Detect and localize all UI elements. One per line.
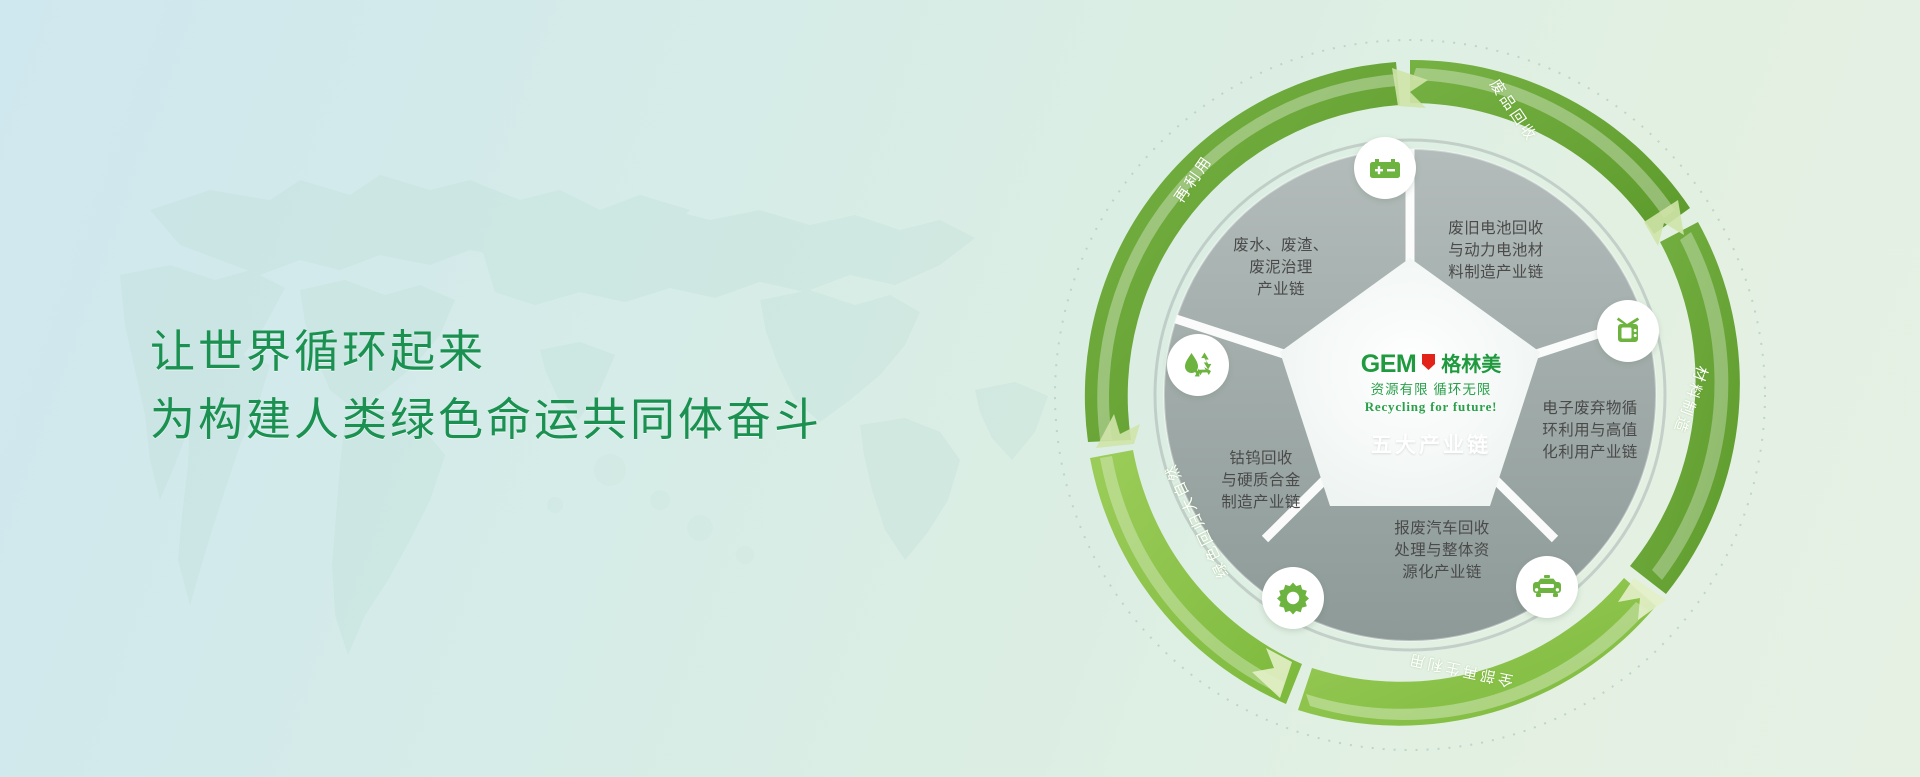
recycle-drop-icon	[1180, 347, 1216, 383]
segment-label-battery: 废旧电池回收 与动力电池材 料制造产业链	[1426, 218, 1566, 284]
logo-slogan-cn: 资源有限 循环无限	[1331, 383, 1531, 397]
logo-flag-icon	[1421, 353, 1436, 376]
hero-banner: 让世界循环起来 为构建人类绿色命运共同体奋斗	[0, 0, 1920, 777]
segment-label-cobalt: 钴钨回收 与硬质合金 制造产业链	[1196, 448, 1326, 514]
headline: 让世界循环起来 为构建人类绿色命运共同体奋斗	[150, 318, 822, 455]
logo-brand-latin: GEM	[1361, 352, 1416, 377]
battery-icon	[1367, 150, 1403, 186]
badge-gear	[1262, 567, 1324, 629]
badge-recycle	[1167, 334, 1229, 396]
gem-logo: GEM 格林美 资源有限 循环无限 Recycling for future! …	[1331, 352, 1531, 456]
headline-line-1: 让世界循环起来	[150, 318, 822, 386]
headline-line-2: 为构建人类绿色命运共同体奋斗	[150, 386, 822, 454]
logo-brand-cn: 格林美	[1441, 355, 1501, 375]
car-icon	[1529, 569, 1565, 605]
logo-subtitle: 五大产业链	[1331, 435, 1531, 456]
badge-battery	[1354, 137, 1416, 199]
segment-label-auto: 报废汽车回收 处理与整体资 源化产业链	[1372, 518, 1512, 584]
badge-car	[1516, 556, 1578, 618]
badge-tv	[1597, 300, 1659, 362]
logo-slogan-en: Recycling for future!	[1331, 400, 1531, 413]
segment-label-water: 废水、废渣、 废泥治理 产业链	[1216, 235, 1346, 301]
gear-icon	[1275, 580, 1311, 616]
segment-label-ewaste: 电子废弃物循 环利用与高值 化利用产业链	[1520, 398, 1660, 464]
tv-icon	[1610, 313, 1646, 349]
